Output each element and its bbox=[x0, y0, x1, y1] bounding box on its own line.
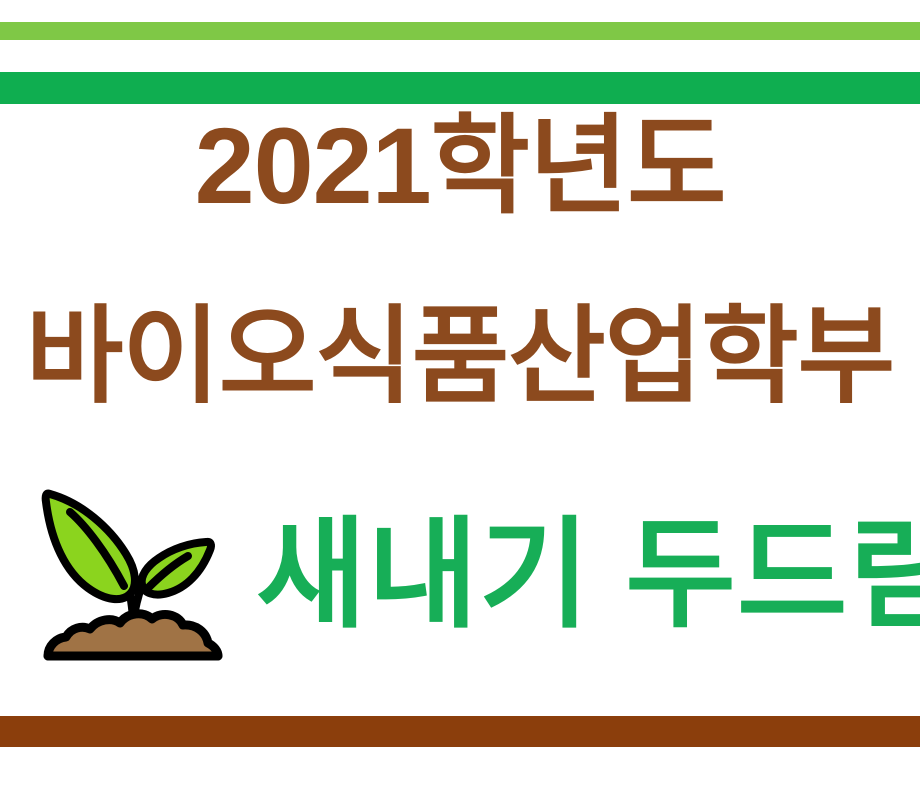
brown-rule bbox=[0, 716, 920, 747]
slogan-text: 새내기 두드림 bbox=[256, 515, 920, 635]
headline-group: 2021학년도 바이오식품산업학부 bbox=[0, 104, 920, 464]
light-green-rule bbox=[0, 22, 920, 40]
poster-canvas: 2021학년도 바이오식품산업학부 새내기 두드림 bbox=[0, 0, 920, 788]
slogan-row: 새내기 두드림 bbox=[0, 470, 920, 680]
sprout-icon bbox=[38, 480, 228, 670]
headline-year: 2021학년도 bbox=[0, 112, 920, 220]
headline-department: 바이오식품산업학부 bbox=[0, 304, 920, 410]
dark-green-rule bbox=[0, 72, 920, 104]
